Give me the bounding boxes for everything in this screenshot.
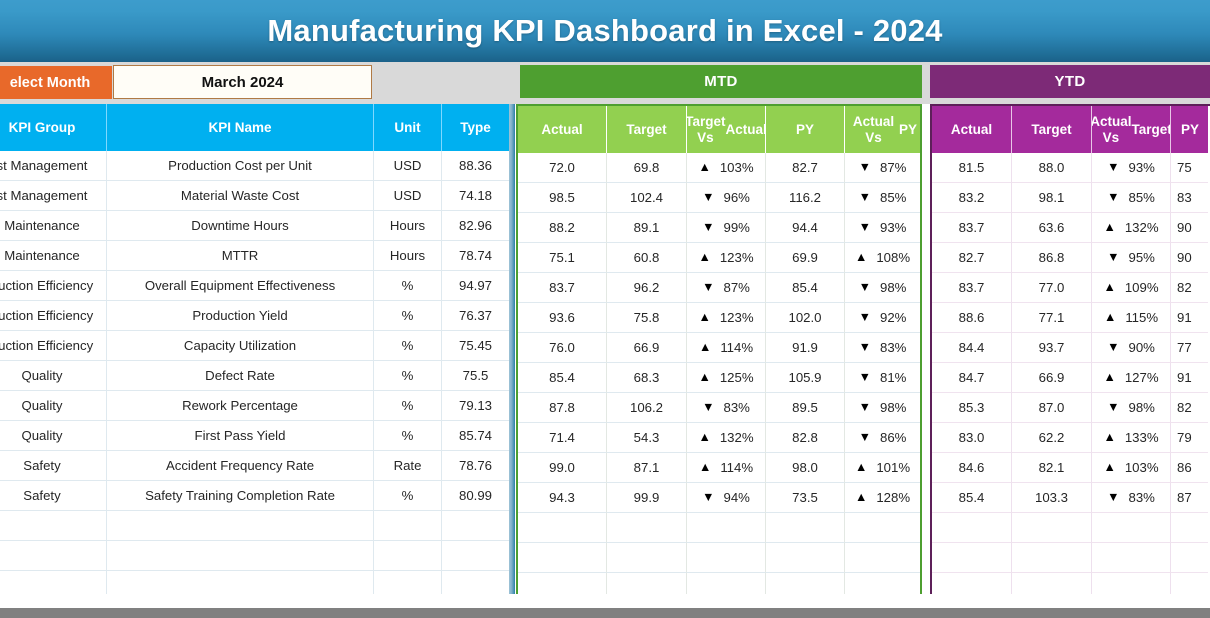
cell-ytd-py: 82 xyxy=(1171,393,1208,423)
table-row xyxy=(932,513,1210,543)
cell-ytd-py xyxy=(1171,513,1208,543)
section-banner-ytd: YTD xyxy=(930,65,1210,98)
cell-ytd-actual-vs-target: ▲109% xyxy=(1092,273,1171,303)
up-arrow-icon: ▲ xyxy=(855,491,867,504)
cell-kpi-name: Downtime Hours xyxy=(107,211,374,241)
variance-value: 92% xyxy=(880,310,906,325)
cell-unit: % xyxy=(374,271,442,301)
cell-ytd-py: 87 xyxy=(1171,483,1208,513)
cell-mtd-actual xyxy=(518,513,607,543)
cell-ytd-target: 88.0 xyxy=(1012,153,1092,183)
down-arrow-icon: ▼ xyxy=(702,401,714,414)
column-header-mtd-actual-vs-py[interactable]: Actual VsPY xyxy=(845,106,920,153)
cell-mtd-actual: 85.4 xyxy=(518,363,607,393)
down-arrow-icon: ▼ xyxy=(1107,191,1119,204)
column-header-mtd-py[interactable]: PY xyxy=(766,106,845,153)
cell-mtd-target: 54.3 xyxy=(607,423,687,453)
cell-kpi-group: st Management xyxy=(0,181,107,211)
cell-mtd-py: 102.0 xyxy=(766,303,845,333)
cell-mtd-actual-vs-py: ▼83% xyxy=(845,333,920,363)
cell-mtd-py xyxy=(766,513,845,543)
cell-kpi-group xyxy=(0,511,107,541)
column-header-mtd-target[interactable]: Target xyxy=(607,106,687,153)
cell-mtd-py: 85.4 xyxy=(766,273,845,303)
mtd-header-row: ActualTargetTarget VsActualPYActual VsPY xyxy=(518,106,920,153)
cell-mtd-target: 89.1 xyxy=(607,213,687,243)
variance-value: 85% xyxy=(880,190,906,205)
table-row xyxy=(518,513,920,543)
cell-unit xyxy=(374,511,442,541)
cell-mtd-target-vs-actual xyxy=(687,543,766,573)
variance-value: 87% xyxy=(723,280,749,295)
up-arrow-icon: ▲ xyxy=(698,311,710,324)
cell-mtd-py: 69.9 xyxy=(766,243,845,273)
cell-type: 74.18 xyxy=(442,181,509,211)
variance-value: 115% xyxy=(1125,310,1158,325)
cell-mtd-py: 116.2 xyxy=(766,183,845,213)
cell-type: 79.13 xyxy=(442,391,509,421)
variance-value: 103% xyxy=(1125,460,1159,475)
cell-kpi-group: Maintenance xyxy=(0,241,107,271)
cell-type: 78.76 xyxy=(442,451,509,481)
table-row: SafetySafety Training Completion Rate%80… xyxy=(0,481,509,511)
cell-type: 75.5 xyxy=(442,361,509,391)
table-row: 82.786.8▼95%90 xyxy=(932,243,1210,273)
cell-mtd-actual: 99.0 xyxy=(518,453,607,483)
cell-kpi-name: Rework Percentage xyxy=(107,391,374,421)
cell-mtd-actual xyxy=(518,543,607,573)
variance-value: 125% xyxy=(720,370,754,385)
cell-ytd-target: 62.2 xyxy=(1012,423,1092,453)
table-row: duction EfficiencyCapacity Utilization%7… xyxy=(0,331,509,361)
down-arrow-icon: ▼ xyxy=(859,431,871,444)
cell-mtd-actual: 76.0 xyxy=(518,333,607,363)
cell-kpi-group: duction Efficiency xyxy=(0,301,107,331)
cell-kpi-group: Safety xyxy=(0,481,107,511)
cell-kpi-group: st Management xyxy=(0,151,107,181)
variance-value: 98% xyxy=(880,280,906,295)
column-header-ytd-actual-vs-target[interactable]: Actual VsTarget xyxy=(1092,106,1171,153)
cell-ytd-actual-vs-target: ▼85% xyxy=(1092,183,1171,213)
variance-value: 83% xyxy=(723,400,749,415)
table-row: 99.087.1▲114%98.0▲101% xyxy=(518,453,920,483)
cell-unit xyxy=(374,541,442,571)
down-arrow-icon: ▼ xyxy=(1107,401,1119,414)
cell-ytd-py: 90 xyxy=(1171,243,1208,273)
table-row: SafetyAccident Frequency RateRate78.76 xyxy=(0,451,509,481)
cell-type: 76.37 xyxy=(442,301,509,331)
cell-ytd-py: 77 xyxy=(1171,333,1208,363)
variance-value: 87% xyxy=(880,160,906,175)
table-row: 85.387.0▼98%82 xyxy=(932,393,1210,423)
cell-ytd-target: 77.1 xyxy=(1012,303,1092,333)
cell-mtd-py: 82.7 xyxy=(766,153,845,183)
cell-mtd-target: 106.2 xyxy=(607,393,687,423)
cell-ytd-target xyxy=(1012,543,1092,573)
cell-ytd-actual: 82.7 xyxy=(932,243,1012,273)
cell-unit: % xyxy=(374,421,442,451)
select-month-value: March 2024 xyxy=(202,74,284,91)
table-row: 98.5102.4▼96%116.2▼85% xyxy=(518,183,920,213)
down-arrow-icon: ▼ xyxy=(859,341,871,354)
variance-value: 133% xyxy=(1125,430,1159,445)
sheet-bottom-gap xyxy=(0,594,1210,608)
cell-mtd-target: 69.8 xyxy=(607,153,687,183)
cell-unit: USD xyxy=(374,151,442,181)
variance-value: 114% xyxy=(720,460,753,475)
up-arrow-icon: ▲ xyxy=(698,371,710,384)
column-header-kpi-name[interactable]: KPI Name xyxy=(107,104,374,151)
up-arrow-icon: ▲ xyxy=(698,161,710,174)
cell-mtd-target-vs-actual: ▲125% xyxy=(687,363,766,393)
cell-type: 82.96 xyxy=(442,211,509,241)
select-month-input[interactable]: March 2024 xyxy=(113,65,372,99)
up-arrow-icon: ▲ xyxy=(855,251,867,264)
down-arrow-icon: ▼ xyxy=(859,371,871,384)
cell-mtd-actual: 71.4 xyxy=(518,423,607,453)
page-title: Manufacturing KPI Dashboard in Excel - 2… xyxy=(267,13,942,49)
cell-mtd-target: 99.9 xyxy=(607,483,687,513)
cell-ytd-py: 91 xyxy=(1171,303,1208,333)
cell-ytd-actual xyxy=(932,543,1012,573)
cell-ytd-actual-vs-target xyxy=(1092,513,1171,543)
cell-ytd-target: 63.6 xyxy=(1012,213,1092,243)
down-arrow-icon: ▼ xyxy=(859,161,871,174)
section-banner-mtd-label: MTD xyxy=(704,73,737,90)
cell-kpi-group: duction Efficiency xyxy=(0,331,107,361)
cell-mtd-target: 75.8 xyxy=(607,303,687,333)
cell-mtd-actual-vs-py: ▼86% xyxy=(845,423,920,453)
cell-mtd-actual: 75.1 xyxy=(518,243,607,273)
cell-ytd-actual-vs-target: ▲103% xyxy=(1092,453,1171,483)
up-arrow-icon: ▲ xyxy=(1103,371,1115,384)
variance-value: 85% xyxy=(1128,190,1154,205)
cell-mtd-target-vs-actual: ▲114% xyxy=(687,333,766,363)
variance-value: 99% xyxy=(723,220,749,235)
column-header-ytd-actual[interactable]: Actual xyxy=(932,106,1012,153)
down-arrow-icon: ▼ xyxy=(1107,491,1119,504)
down-arrow-icon: ▼ xyxy=(859,191,871,204)
cell-mtd-py: 94.4 xyxy=(766,213,845,243)
cell-type: 85.74 xyxy=(442,421,509,451)
table-row: MaintenanceMTTRHours78.74 xyxy=(0,241,509,271)
horizontal-scrollbar[interactable] xyxy=(0,608,1210,618)
cell-mtd-target-vs-actual: ▲123% xyxy=(687,243,766,273)
cell-ytd-actual-vs-target: ▼93% xyxy=(1092,153,1171,183)
up-arrow-icon: ▲ xyxy=(1103,221,1115,234)
cell-mtd-py: 89.5 xyxy=(766,393,845,423)
up-arrow-icon: ▲ xyxy=(855,461,867,474)
cell-mtd-target xyxy=(607,543,687,573)
cell-mtd-target-vs-actual: ▼83% xyxy=(687,393,766,423)
cell-type xyxy=(442,511,509,541)
cell-kpi-group: Maintenance xyxy=(0,211,107,241)
cell-ytd-actual: 84.7 xyxy=(932,363,1012,393)
cell-mtd-actual: 83.7 xyxy=(518,273,607,303)
cell-mtd-py: 73.5 xyxy=(766,483,845,513)
cell-kpi-group: Quality xyxy=(0,421,107,451)
cell-kpi-name: Defect Rate xyxy=(107,361,374,391)
dashboard-title-bar: Manufacturing KPI Dashboard in Excel - 2… xyxy=(0,0,1210,62)
cell-mtd-target-vs-actual: ▼96% xyxy=(687,183,766,213)
cell-type xyxy=(442,541,509,571)
cell-ytd-actual: 83.7 xyxy=(932,213,1012,243)
table-row: duction EfficiencyOverall Equipment Effe… xyxy=(0,271,509,301)
cell-kpi-name: First Pass Yield xyxy=(107,421,374,451)
left-table-edge-accent xyxy=(509,104,515,594)
cell-mtd-target-vs-actual: ▼87% xyxy=(687,273,766,303)
cell-mtd-target-vs-actual xyxy=(687,513,766,543)
variance-value: 81% xyxy=(880,370,906,385)
cell-mtd-target: 96.2 xyxy=(607,273,687,303)
table-row: 83.796.2▼87%85.4▼98% xyxy=(518,273,920,303)
column-header-ytd-target[interactable]: Target xyxy=(1012,106,1092,153)
variance-value: 101% xyxy=(876,460,910,475)
up-arrow-icon: ▲ xyxy=(1103,431,1115,444)
table-row: st ManagementProduction Cost per UnitUSD… xyxy=(0,151,509,181)
table-row: 94.399.9▼94%73.5▲128% xyxy=(518,483,920,513)
variance-value: 132% xyxy=(720,430,754,445)
cell-unit: Rate xyxy=(374,451,442,481)
down-arrow-icon: ▼ xyxy=(1107,341,1119,354)
cell-kpi-group: Safety xyxy=(0,451,107,481)
table-row: 87.8106.2▼83%89.5▼98% xyxy=(518,393,920,423)
table-row xyxy=(0,511,509,541)
cell-ytd-actual: 85.4 xyxy=(932,483,1012,513)
cell-mtd-actual-vs-py: ▼98% xyxy=(845,393,920,423)
cell-ytd-actual: 83.2 xyxy=(932,183,1012,213)
cell-ytd-actual xyxy=(932,513,1012,543)
table-row: 75.160.8▲123%69.9▲108% xyxy=(518,243,920,273)
cell-kpi-name xyxy=(107,541,374,571)
cell-ytd-target xyxy=(1012,513,1092,543)
variance-value: 123% xyxy=(720,310,754,325)
cell-ytd-actual-vs-target: ▼95% xyxy=(1092,243,1171,273)
cell-kpi-name: Capacity Utilization xyxy=(107,331,374,361)
cell-kpi-group xyxy=(0,541,107,571)
table-row: 76.066.9▲114%91.9▼83% xyxy=(518,333,920,363)
cell-mtd-target: 102.4 xyxy=(607,183,687,213)
mtd-metrics-table: ActualTargetTarget VsActualPYActual VsPY… xyxy=(516,104,922,605)
cell-ytd-py: 91 xyxy=(1171,363,1208,393)
cell-type: 75.45 xyxy=(442,331,509,361)
cell-mtd-actual-vs-py: ▲128% xyxy=(845,483,920,513)
cell-kpi-group: Quality xyxy=(0,361,107,391)
cell-unit: % xyxy=(374,481,442,511)
up-arrow-icon: ▲ xyxy=(699,341,711,354)
table-row: 85.468.3▲125%105.9▼81% xyxy=(518,363,920,393)
variance-value: 108% xyxy=(876,250,910,265)
cell-ytd-target: 82.1 xyxy=(1012,453,1092,483)
cell-kpi-name: MTTR xyxy=(107,241,374,271)
ytd-metrics-table: ActualTargetActual VsTargetPY81.588.0▼93… xyxy=(930,104,1210,605)
variance-value: 83% xyxy=(1128,490,1154,505)
cell-ytd-actual: 84.4 xyxy=(932,333,1012,363)
variance-value: 127% xyxy=(1125,370,1159,385)
down-arrow-icon: ▼ xyxy=(702,221,714,234)
cell-mtd-target: 68.3 xyxy=(607,363,687,393)
table-row: QualityRework Percentage%79.13 xyxy=(0,391,509,421)
cell-mtd-actual: 98.5 xyxy=(518,183,607,213)
cell-mtd-target-vs-actual: ▲123% xyxy=(687,303,766,333)
table-row: 84.493.7▼90%77 xyxy=(932,333,1210,363)
cell-ytd-target: 93.7 xyxy=(1012,333,1092,363)
down-arrow-icon: ▼ xyxy=(702,191,714,204)
cell-mtd-py xyxy=(766,543,845,573)
cell-mtd-actual: 88.2 xyxy=(518,213,607,243)
table-row: 81.588.0▼93%75 xyxy=(932,153,1210,183)
cell-mtd-target: 87.1 xyxy=(607,453,687,483)
variance-value: 86% xyxy=(880,430,906,445)
column-header-mtd-target-vs-actual[interactable]: Target VsActual xyxy=(687,106,766,153)
cell-kpi-name: Overall Equipment Effectiveness xyxy=(107,271,374,301)
cell-kpi-name xyxy=(107,511,374,541)
table-row: MaintenanceDowntime HoursHours82.96 xyxy=(0,211,509,241)
cell-ytd-actual-vs-target: ▲132% xyxy=(1092,213,1171,243)
cell-mtd-actual-vs-py: ▼92% xyxy=(845,303,920,333)
variance-value: 83% xyxy=(880,340,906,355)
table-row: 72.069.8▲103%82.7▼87% xyxy=(518,153,920,183)
cell-mtd-target: 66.9 xyxy=(607,333,687,363)
cell-unit: Hours xyxy=(374,211,442,241)
table-row: 83.062.2▲133%79 xyxy=(932,423,1210,453)
cell-mtd-actual: 94.3 xyxy=(518,483,607,513)
cell-mtd-target-vs-actual: ▲103% xyxy=(687,153,766,183)
cell-mtd-actual-vs-py xyxy=(845,543,920,573)
cell-mtd-py: 82.8 xyxy=(766,423,845,453)
cell-ytd-actual: 84.6 xyxy=(932,453,1012,483)
cell-ytd-actual-vs-target: ▲115% xyxy=(1092,303,1171,333)
cell-kpi-name: Production Cost per Unit xyxy=(107,151,374,181)
cell-kpi-group: Quality xyxy=(0,391,107,421)
kpi-info-header-row: KPI GroupKPI NameUnitType xyxy=(0,104,509,151)
cell-mtd-py: 91.9 xyxy=(766,333,845,363)
table-row xyxy=(0,541,509,571)
table-row: 84.682.1▲103%86 xyxy=(932,453,1210,483)
cell-type: 94.97 xyxy=(442,271,509,301)
cell-ytd-actual-vs-target: ▼98% xyxy=(1092,393,1171,423)
cell-ytd-actual-vs-target: ▲133% xyxy=(1092,423,1171,453)
down-arrow-icon: ▼ xyxy=(1107,251,1119,264)
cell-ytd-target: 103.3 xyxy=(1012,483,1092,513)
cell-ytd-target: 77.0 xyxy=(1012,273,1092,303)
table-row: 85.4103.3▼83%87 xyxy=(932,483,1210,513)
cell-ytd-actual: 83.0 xyxy=(932,423,1012,453)
cell-unit: % xyxy=(374,301,442,331)
variance-value: 103% xyxy=(720,160,754,175)
cell-mtd-py: 98.0 xyxy=(766,453,845,483)
cell-type: 88.36 xyxy=(442,151,509,181)
cell-mtd-py: 105.9 xyxy=(766,363,845,393)
column-header-ytd-py[interactable]: PY xyxy=(1171,106,1208,153)
variance-value: 98% xyxy=(1128,400,1154,415)
cell-ytd-target: 87.0 xyxy=(1012,393,1092,423)
down-arrow-icon: ▼ xyxy=(859,221,871,234)
down-arrow-icon: ▼ xyxy=(702,281,714,294)
cell-type: 78.74 xyxy=(442,241,509,271)
variance-value: 96% xyxy=(723,190,749,205)
cell-mtd-target: 60.8 xyxy=(607,243,687,273)
table-row xyxy=(932,543,1210,573)
table-row: 71.454.3▲132%82.8▼86% xyxy=(518,423,920,453)
cell-ytd-actual-vs-target xyxy=(1092,543,1171,573)
cell-ytd-py: 86 xyxy=(1171,453,1208,483)
cell-ytd-actual: 81.5 xyxy=(932,153,1012,183)
select-month-label-text: elect Month xyxy=(10,75,91,91)
cell-ytd-py: 75 xyxy=(1171,153,1208,183)
cell-kpi-name: Safety Training Completion Rate xyxy=(107,481,374,511)
cell-mtd-target-vs-actual: ▲114% xyxy=(687,453,766,483)
table-row: 88.289.1▼99%94.4▼93% xyxy=(518,213,920,243)
cell-ytd-py: 79 xyxy=(1171,423,1208,453)
down-arrow-icon: ▼ xyxy=(859,281,871,294)
cell-type: 80.99 xyxy=(442,481,509,511)
up-arrow-icon: ▲ xyxy=(1104,311,1116,324)
cell-ytd-actual-vs-target: ▼83% xyxy=(1092,483,1171,513)
variance-value: 93% xyxy=(880,220,906,235)
cell-kpi-name: Accident Frequency Rate xyxy=(107,451,374,481)
cell-mtd-actual-vs-py: ▼85% xyxy=(845,183,920,213)
column-header-type[interactable]: Type xyxy=(442,104,509,151)
cell-ytd-actual: 85.3 xyxy=(932,393,1012,423)
cell-kpi-group: duction Efficiency xyxy=(0,271,107,301)
cell-unit: USD xyxy=(374,181,442,211)
table-row: 84.766.9▲127%91 xyxy=(932,363,1210,393)
cell-mtd-actual: 93.6 xyxy=(518,303,607,333)
cell-mtd-actual: 72.0 xyxy=(518,153,607,183)
up-arrow-icon: ▲ xyxy=(1103,461,1115,474)
table-row: QualityDefect Rate%75.5 xyxy=(0,361,509,391)
table-row: st ManagementMaterial Waste CostUSD74.18 xyxy=(0,181,509,211)
down-arrow-icon: ▼ xyxy=(702,491,714,504)
table-row: 93.675.8▲123%102.0▼92% xyxy=(518,303,920,333)
cell-ytd-target: 86.8 xyxy=(1012,243,1092,273)
variance-value: 109% xyxy=(1125,280,1159,295)
down-arrow-icon: ▼ xyxy=(1107,161,1119,174)
table-row: QualityFirst Pass Yield%85.74 xyxy=(0,421,509,451)
ytd-header-row: ActualTargetActual VsTargetPY xyxy=(932,106,1210,153)
cell-unit: % xyxy=(374,391,442,421)
variance-value: 132% xyxy=(1125,220,1159,235)
cell-mtd-actual: 87.8 xyxy=(518,393,607,423)
down-arrow-icon: ▼ xyxy=(859,311,871,324)
variance-value: 95% xyxy=(1128,250,1154,265)
cell-ytd-py xyxy=(1171,543,1208,573)
cell-mtd-actual-vs-py: ▼81% xyxy=(845,363,920,393)
cell-ytd-actual: 88.6 xyxy=(932,303,1012,333)
up-arrow-icon: ▲ xyxy=(1103,281,1115,294)
table-row: 83.777.0▲109%82 xyxy=(932,273,1210,303)
cell-ytd-target: 98.1 xyxy=(1012,183,1092,213)
column-header-mtd-actual[interactable]: Actual xyxy=(518,106,607,153)
column-header-unit[interactable]: Unit xyxy=(374,104,442,151)
variance-value: 93% xyxy=(1128,160,1154,175)
up-arrow-icon: ▲ xyxy=(698,431,710,444)
cell-ytd-actual: 83.7 xyxy=(932,273,1012,303)
table-row xyxy=(518,543,920,573)
table-row: 88.677.1▲115%91 xyxy=(932,303,1210,333)
cell-mtd-target-vs-actual: ▼94% xyxy=(687,483,766,513)
cell-unit: % xyxy=(374,331,442,361)
section-banner-ytd-label: YTD xyxy=(1055,73,1086,90)
cell-ytd-py: 82 xyxy=(1171,273,1208,303)
column-header-kpi-group[interactable]: KPI Group xyxy=(0,104,107,151)
select-month-label: elect Month xyxy=(0,66,112,99)
cell-ytd-target: 66.9 xyxy=(1012,363,1092,393)
cell-mtd-actual-vs-py: ▲101% xyxy=(845,453,920,483)
cell-kpi-name: Material Waste Cost xyxy=(107,181,374,211)
table-row: 83.763.6▲132%90 xyxy=(932,213,1210,243)
